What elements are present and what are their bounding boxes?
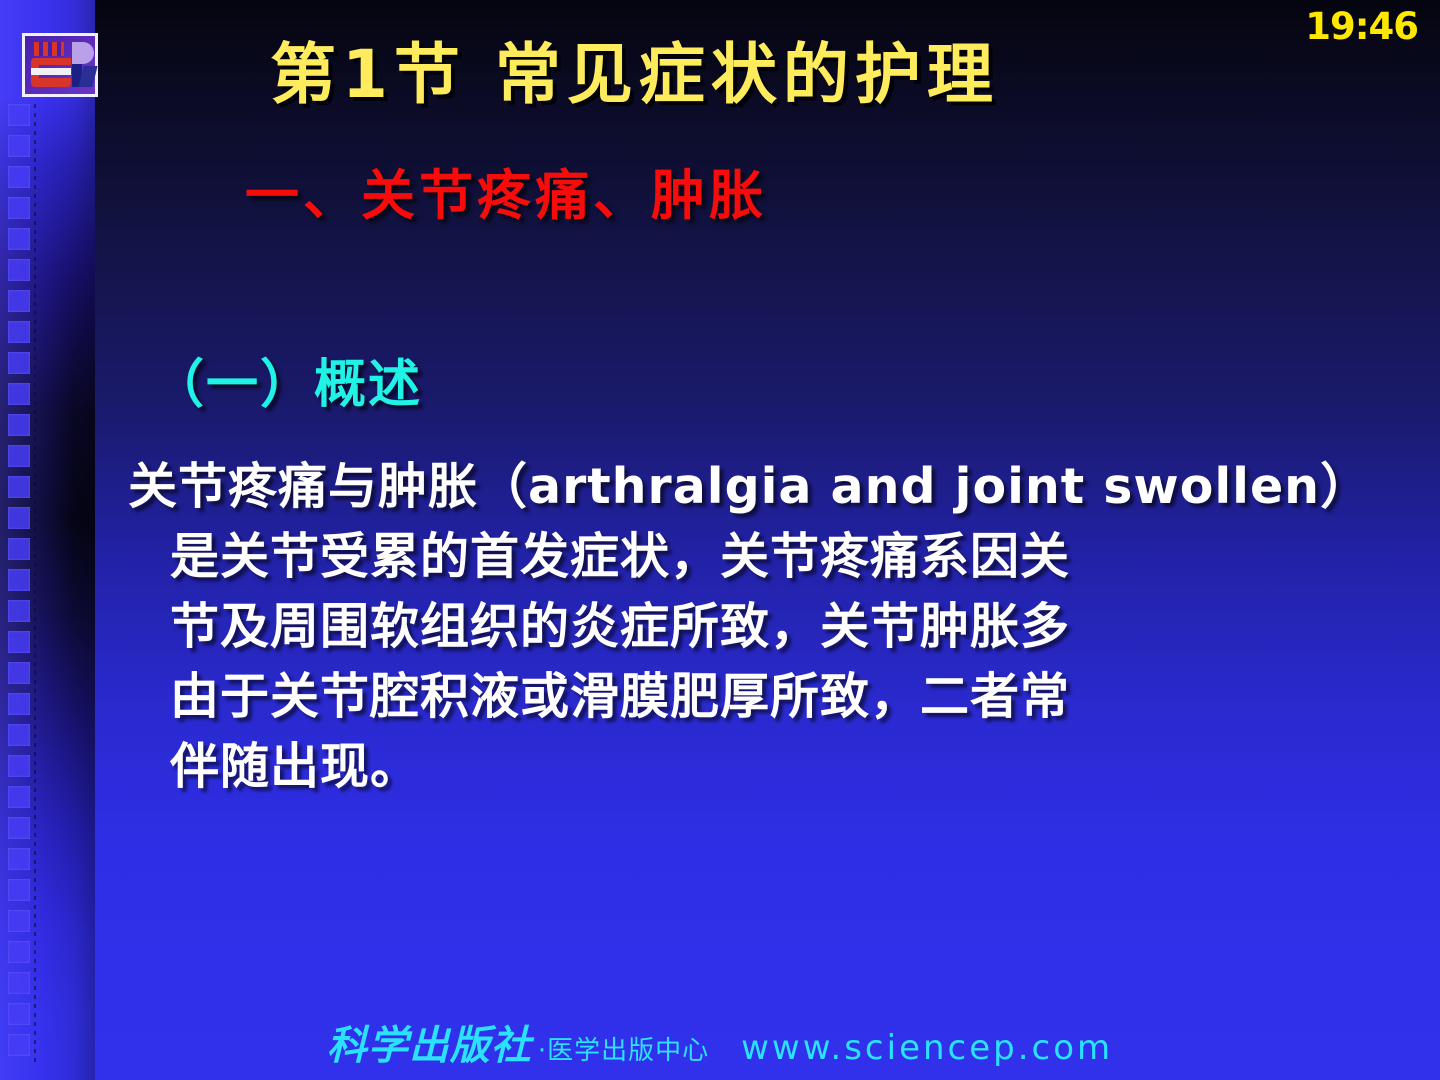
section-heading: （一）概述 (152, 358, 422, 413)
perforation-square (8, 476, 30, 498)
perforation-square (8, 972, 30, 994)
perforation-square (8, 383, 30, 405)
perforation-square (8, 600, 30, 622)
perforation-square (8, 569, 30, 591)
perforation-square (8, 445, 30, 467)
perforation-square (8, 1003, 30, 1025)
perforation-square (8, 724, 30, 746)
sidebar-filmstrip (0, 0, 95, 1080)
body-paragraph: 关节疼痛与肿胀（arthralgia and joint swollen） 是关… (128, 452, 1428, 802)
perforation-square (8, 228, 30, 250)
perforation-square (8, 817, 30, 839)
footer-website-url[interactable]: www.sciencep.com (741, 1031, 1113, 1065)
perforation-square (8, 631, 30, 653)
perforation-square (8, 197, 30, 219)
perforation-square (8, 879, 30, 901)
body-line: 关节疼痛与肿胀（arthralgia and joint swollen） (128, 452, 1428, 522)
body-line: 节及周围软组织的炎症所致，关节肿胀多 (128, 592, 1428, 662)
logo-letter-p-bowl (72, 42, 94, 64)
perforation-square (8, 693, 30, 715)
perforation-square (8, 166, 30, 188)
footer-department: ·医学出版中心 (538, 1038, 709, 1064)
perforation-square (8, 941, 30, 963)
perforation-square (8, 755, 30, 777)
perforation-square (8, 507, 30, 529)
perforation-square (8, 290, 30, 312)
perforation-square (8, 538, 30, 560)
logo-letter-s-bar-bottom (31, 78, 71, 87)
perforation-square (8, 104, 30, 126)
science-press-logo-icon (22, 33, 98, 97)
perforation-square (8, 352, 30, 374)
perforation-square (8, 662, 30, 684)
presentation-slide: 19:46 第1节 常见症状的护理 一、关节疼痛、肿胀 （一）概述 关节疼痛与肿… (0, 0, 1440, 1080)
body-line: 是关节受累的首发症状，关节疼痛系因关 (128, 522, 1428, 592)
logo-letter-s-bar-mid (31, 68, 71, 75)
slide-footer: 科学出版社 ·医学出版中心 www.sciencep.com (0, 1026, 1440, 1066)
clock-display: 19:46 (1305, 8, 1418, 45)
slide-subtitle: 一、关节疼痛、肿胀 (245, 168, 1145, 225)
logo-artwork (25, 36, 95, 94)
sidebar-perforation-column (8, 104, 30, 1064)
body-line: 伴随出现。 (128, 732, 1428, 802)
perforation-square (8, 414, 30, 436)
perforation-square (8, 321, 30, 343)
footer-publisher-name: 科学出版社 (327, 1026, 532, 1066)
perforation-square (8, 135, 30, 157)
logo-letter-s-bar-top (31, 58, 71, 65)
logo-top-bars (34, 42, 64, 56)
perforation-square (8, 259, 30, 281)
body-line: 由于关节腔积液或滑膜肥厚所致，二者常 (128, 662, 1428, 732)
perforation-square (8, 848, 30, 870)
perforation-square (8, 910, 30, 932)
perforation-square (8, 786, 30, 808)
sidebar-rail-dots (34, 104, 36, 1064)
slide-title: 第1节 常见症状的护理 (270, 40, 1170, 109)
